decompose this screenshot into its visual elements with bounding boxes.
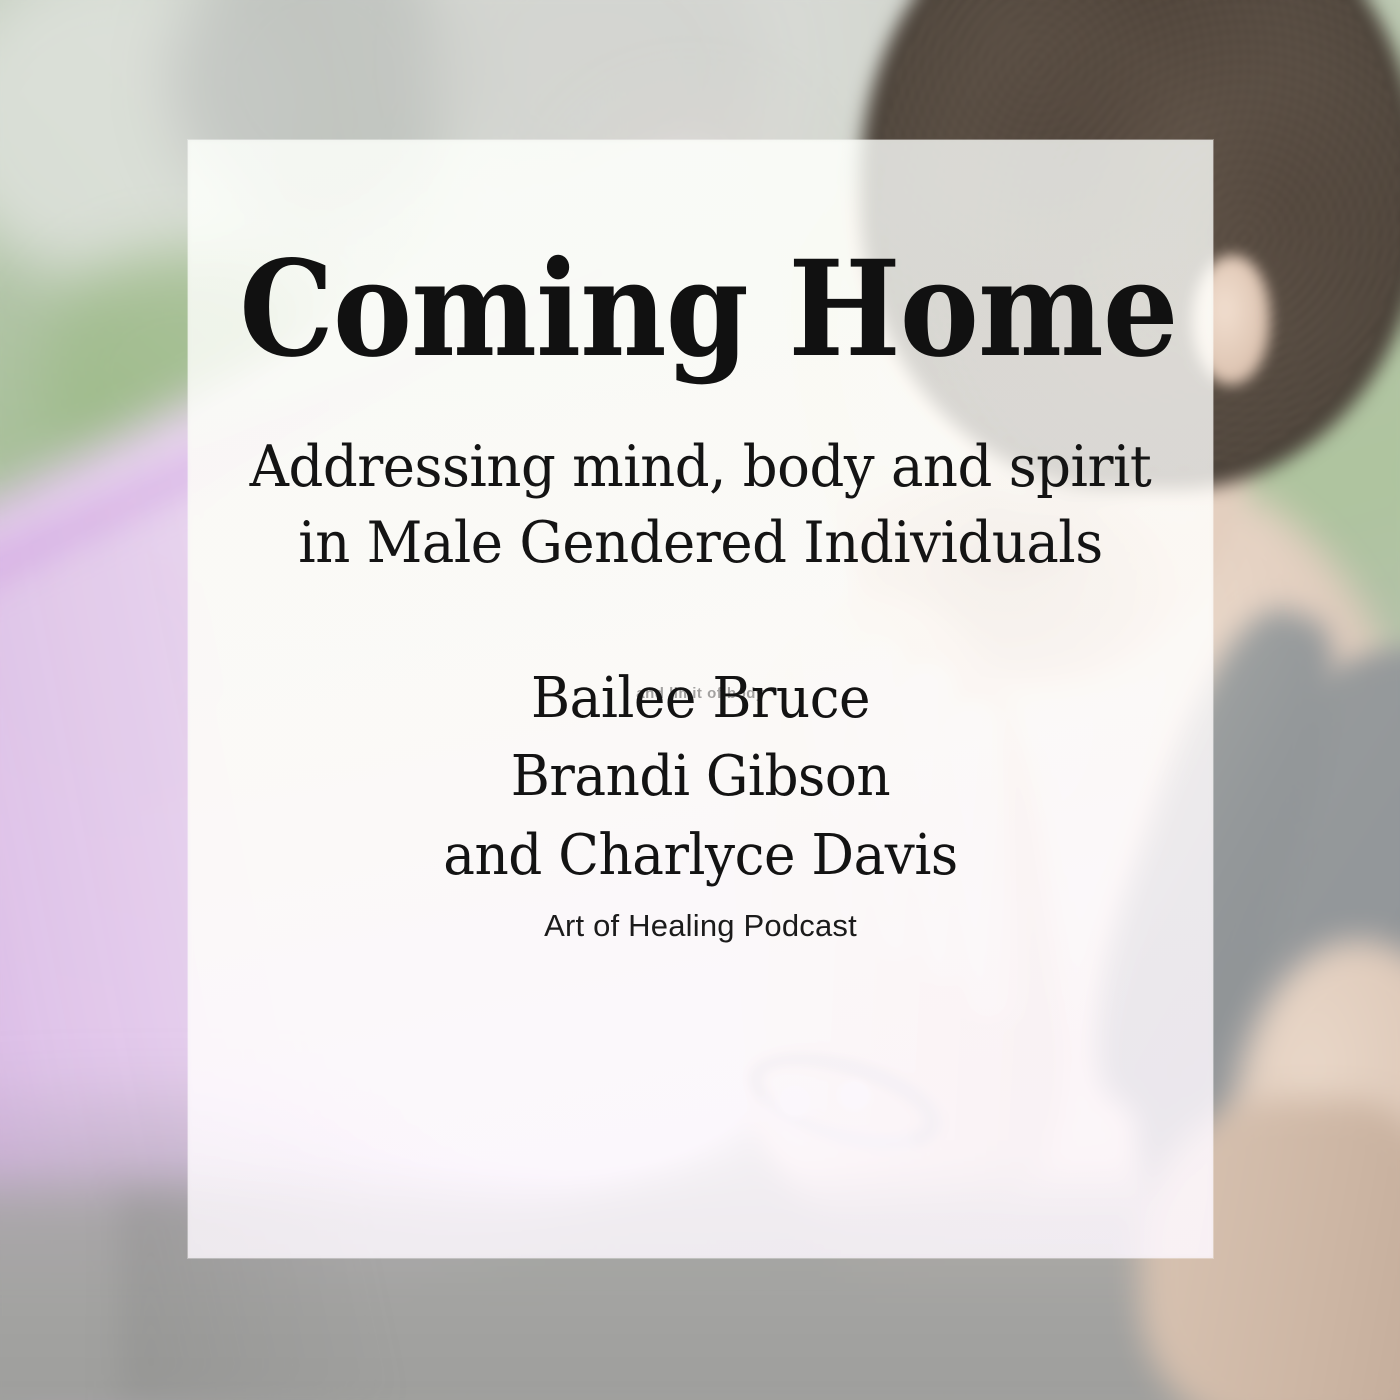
presenter-list: Bailee Bruce Brandi Gibson and Charlyce … — [246, 660, 1155, 895]
podcast-cover-art: Coming Home Addressing mind, body and sp… — [0, 0, 1400, 1400]
podcast-name: Art of Healing Podcast — [188, 908, 1213, 944]
presenter-name: Bailee Bruce — [246, 660, 1155, 738]
page-title: Coming Home — [239, 244, 1162, 376]
cover-text-block: Coming Home Addressing mind, body and sp… — [188, 140, 1213, 1258]
presenter-name: and Charlyce Davis — [246, 817, 1155, 895]
presenter-name: Brandi Gibson — [246, 738, 1155, 816]
subtitle: Addressing mind, body and spirit in Male… — [244, 430, 1158, 582]
